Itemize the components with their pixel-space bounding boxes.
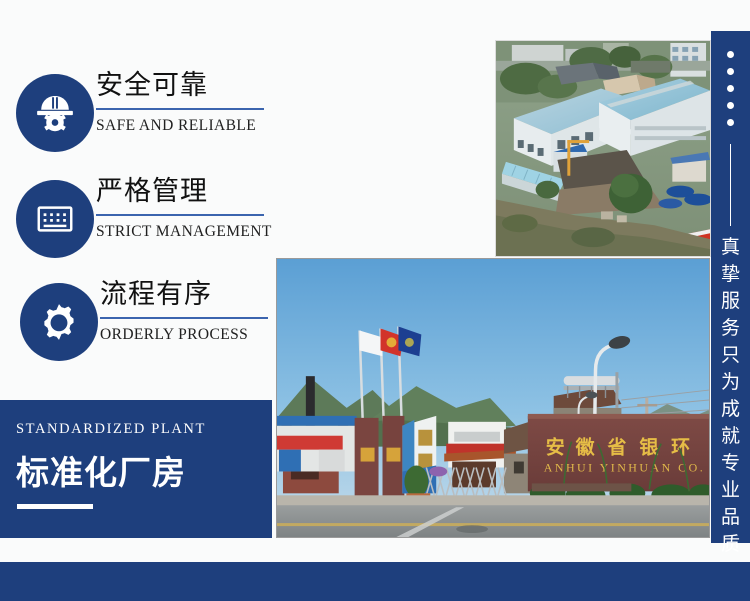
svg-text:省: 省 <box>606 437 626 459</box>
side-strip: 真 挚 服 务 只 为 成 就 专 业 品 质 <box>711 31 750 543</box>
caption-panel: STANDARDIZED PLANT 标准化厂房 <box>0 400 272 538</box>
svg-text:环: 环 <box>671 437 690 459</box>
feature-underline <box>96 108 264 110</box>
side-vertical-slogan: 真 挚 服 务 只 为 成 就 专 业 品 质 <box>711 234 750 558</box>
feature-title-cn: 严格管理 <box>96 176 276 208</box>
feature-title-en: STRICT MANAGEMENT <box>96 223 276 241</box>
page-root: 安全可靠 SAFE AND RELIABLE <box>0 0 750 601</box>
svg-text:安: 安 <box>546 436 565 459</box>
safety-helmet-gear-icon <box>16 74 94 152</box>
slogan-char: 成 <box>711 396 750 423</box>
caption-underline <box>17 504 93 509</box>
side-dot-group <box>711 51 750 126</box>
bottom-blue-band <box>0 562 750 601</box>
caption-title-cn: 标准化厂房 <box>16 446 186 494</box>
feature-text-block: 流程有序 ORDERLY PROCESS <box>100 279 280 344</box>
slogan-char: 质 <box>711 531 750 558</box>
slogan-char: 品 <box>711 504 750 531</box>
feature-item-safe-and-reliable: 安全可靠 SAFE AND RELIABLE <box>0 74 276 170</box>
slogan-char: 只 <box>711 342 750 369</box>
factory-gate-photo: 安徽 省银 环 ANHUI YINHUAN CO. <box>276 258 710 538</box>
feature-title-cn: 安全可靠 <box>96 70 276 102</box>
slogan-char: 专 <box>711 450 750 477</box>
slogan-char: 挚 <box>711 261 750 288</box>
side-dot <box>727 51 734 58</box>
slogan-char: 为 <box>711 369 750 396</box>
feature-underline <box>100 317 268 319</box>
feature-item-strict-management: 严格管理 STRICT MANAGEMENT <box>0 180 276 276</box>
gear-process-icon <box>20 283 98 361</box>
side-dot <box>727 119 734 126</box>
feature-underline <box>96 214 264 216</box>
feature-text-block: 安全可靠 SAFE AND RELIABLE <box>96 70 276 135</box>
feature-title-en: ORDERLY PROCESS <box>100 326 280 344</box>
side-dot <box>727 102 734 109</box>
slogan-char: 真 <box>711 234 750 261</box>
management-register-icon <box>16 180 94 258</box>
feature-title-cn: 流程有序 <box>100 279 280 311</box>
feature-title-en: SAFE AND RELIABLE <box>96 117 276 135</box>
slogan-char: 服 <box>711 288 750 315</box>
caption-subtitle-en: STANDARDIZED PLANT <box>16 421 206 438</box>
side-dot <box>727 85 734 92</box>
side-divider-line <box>730 144 731 226</box>
slogan-char: 业 <box>711 477 750 504</box>
slogan-char: 就 <box>711 423 750 450</box>
factory-aerial-photo <box>495 40 711 257</box>
feature-item-orderly-process: 流程有序 ORDERLY PROCESS <box>0 283 276 379</box>
svg-text:ANHUI YINHUAN CO.: ANHUI YINHUAN CO. <box>544 460 705 474</box>
feature-text-block: 严格管理 STRICT MANAGEMENT <box>96 176 276 241</box>
slogan-char: 务 <box>711 315 750 342</box>
side-dot <box>727 68 734 75</box>
svg-text:徽: 徽 <box>575 436 596 459</box>
